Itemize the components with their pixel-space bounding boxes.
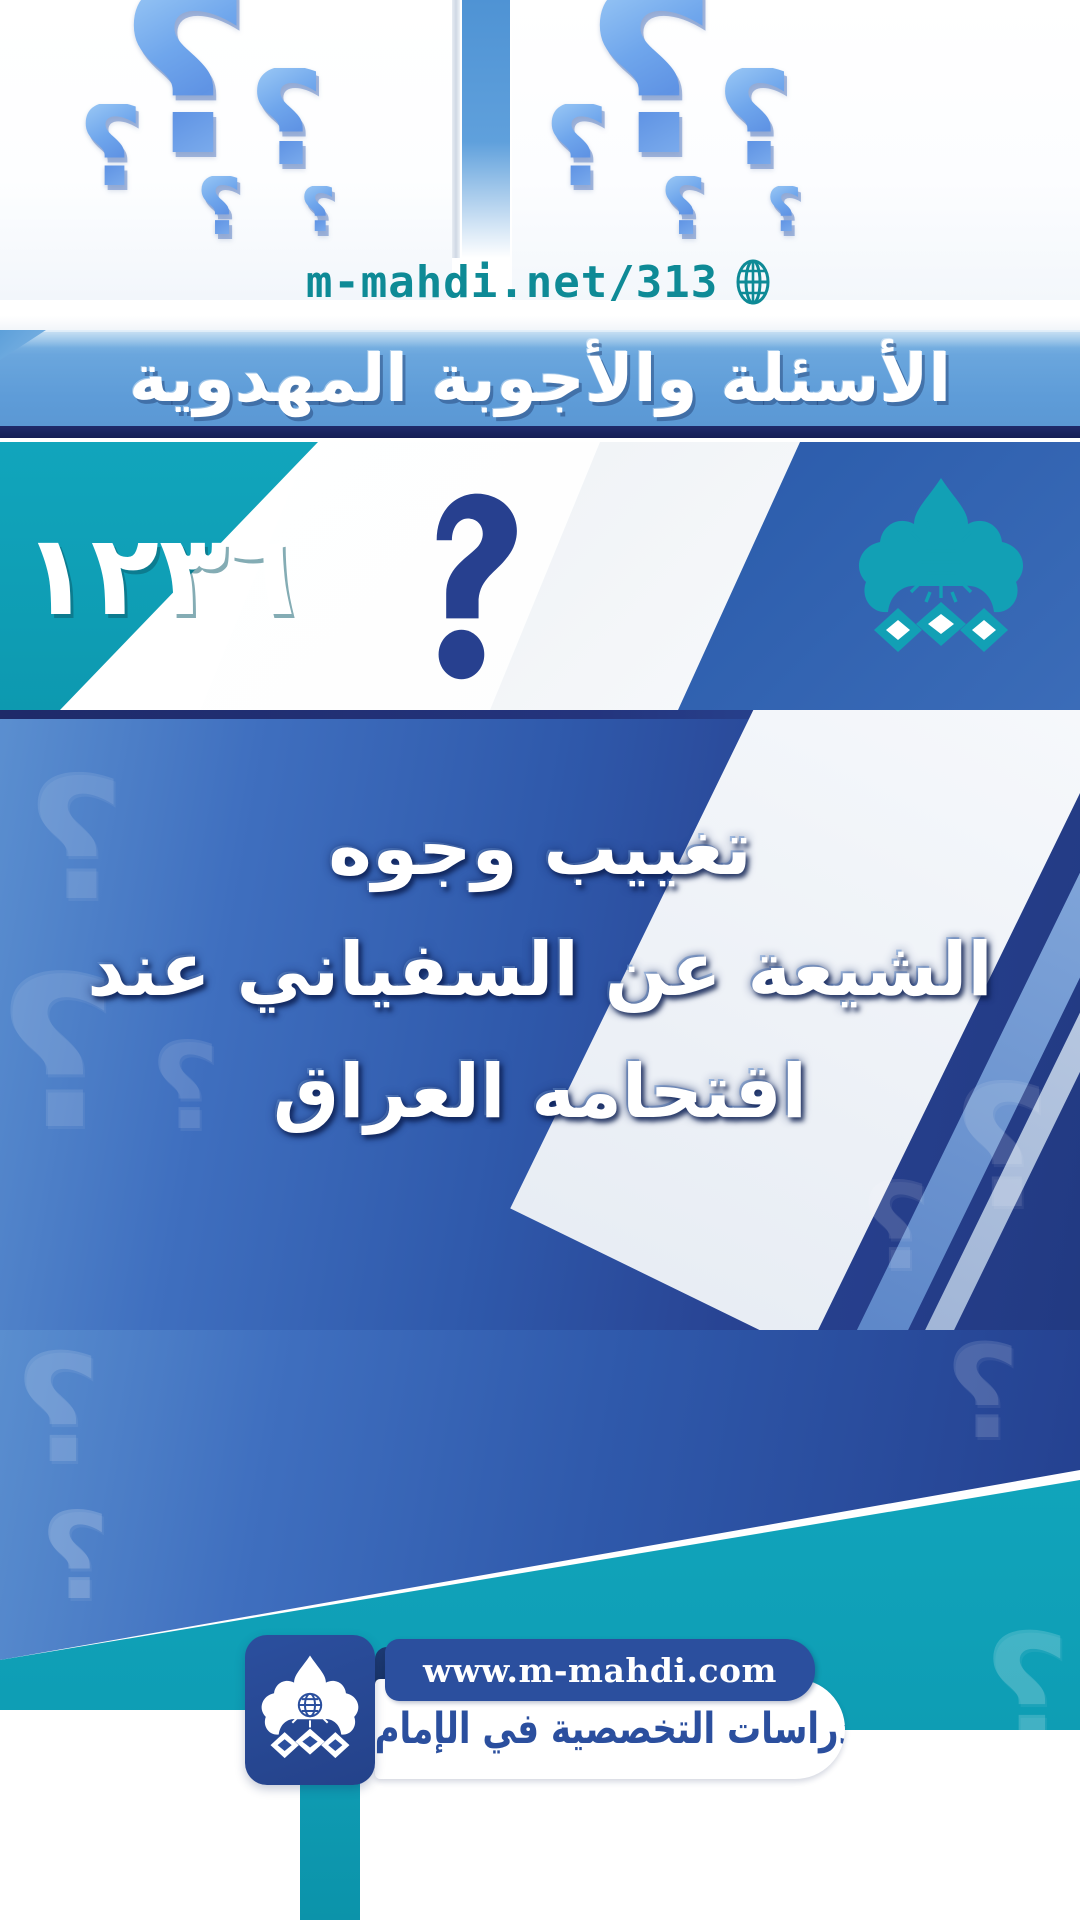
decor-question-mark-icon: ؟ — [766, 186, 802, 234]
question-number-box: ١٢٣٦ — [0, 442, 318, 710]
question-text-block: تغييب وجوه الشيعة عن السفياني عند اقتحام… — [60, 806, 1020, 1136]
footer-url-pill[interactable]: www.m-mahdi.com — [385, 1639, 815, 1701]
decor-question-mark-icon: ؟ — [248, 68, 325, 171]
decor-question-mark-icon: ؟ — [300, 186, 336, 234]
big-question-mark-icon — [350, 470, 590, 700]
decor-question-mark-icon: ؟ — [196, 176, 242, 238]
footer-brand-bar: مركز الدراسات التخصصية في الإمام المهدي … — [0, 1610, 1080, 1810]
decor-question-mark-icon: ؟ — [40, 1510, 110, 1606]
banner-title-text: الأسئلة والأجوبة المهدوية — [0, 330, 1080, 426]
decor-question-mark-icon: ؟ — [78, 104, 143, 191]
poster-canvas: ؟ ؟ ؟ ؟ ؟ ؟ ؟ ؟ ؟ ؟ m-mahdi.net/313 ا — [0, 0, 1080, 1920]
footer-logo[interactable] — [245, 1635, 375, 1785]
decor-question-mark-icon: ؟ — [860, 1180, 930, 1276]
site-url-row[interactable]: m-mahdi.net/313 — [0, 252, 1080, 312]
decor-question-mark-icon: ؟ — [544, 104, 609, 191]
top-blue-stripe — [462, 0, 510, 258]
site-url-text[interactable]: m-mahdi.net/313 — [306, 257, 718, 308]
title-banner: الأسئلة والأجوبة المهدوية — [0, 316, 1080, 442]
footer-ribbon: مركز الدراسات التخصصية في الإمام المهدي … — [375, 1635, 845, 1785]
decor-question-mark-icon: ؟ — [660, 176, 706, 238]
question-line: الشيعة عن السفياني عند — [87, 927, 993, 1014]
mahdi-center-emblem-icon — [846, 472, 1036, 662]
decor-question-mark-icon: ؟ — [945, 1340, 1020, 1444]
question-number: ١٢٣٦ — [22, 511, 295, 641]
mahdi-center-emblem-icon — [254, 1648, 366, 1772]
top-separator-line — [452, 0, 460, 258]
middle-diagonal-band: ١٢٣٦ — [0, 442, 1080, 710]
decor-question-mark-icon: ؟ — [14, 1350, 101, 1470]
question-panel: ؟ ؟ ؟ ؟ ؟ تغييب وجوه الشيعة عن السفياني … — [0, 710, 1080, 1330]
decor-question-mark-icon: ؟ — [716, 68, 793, 171]
footer-url-text[interactable]: www.m-mahdi.com — [423, 1651, 777, 1690]
organization-name: مركز الدراسات التخصصية في الإمام المهدي — [375, 1704, 845, 1754]
banner-underline — [0, 426, 1080, 438]
globe-icon — [732, 259, 774, 305]
question-line: تغييب وجوه — [328, 806, 751, 893]
question-line: اقتحامه العراق — [273, 1049, 807, 1136]
